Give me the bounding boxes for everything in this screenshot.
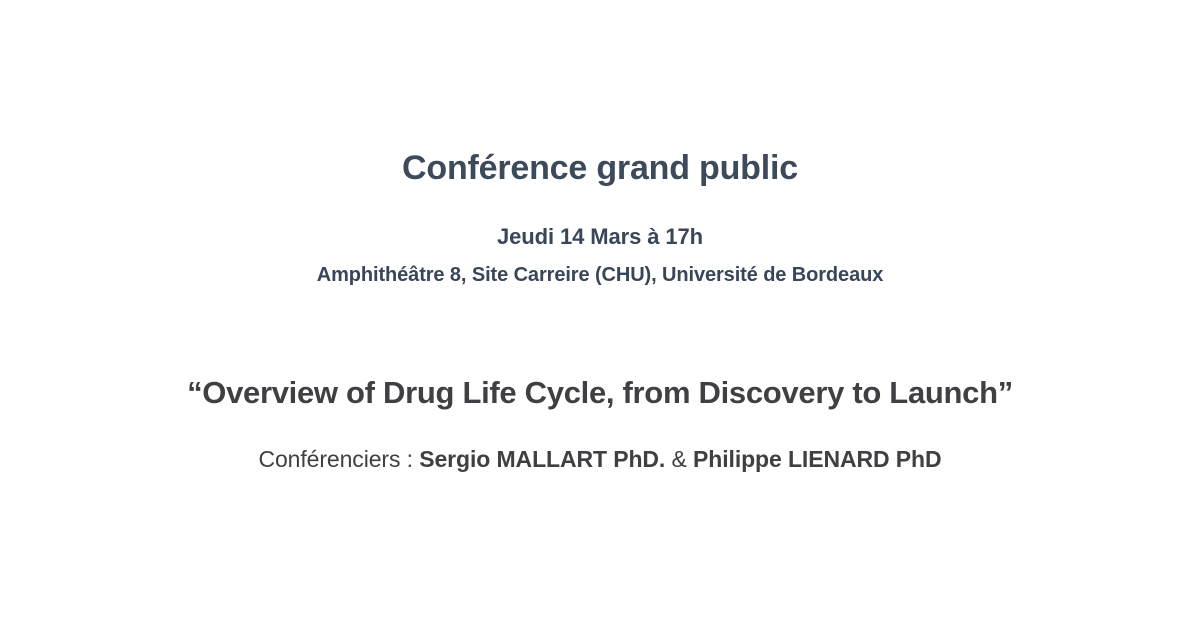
- speakers-conjunction: &: [665, 446, 693, 472]
- speakers-label: Conférenciers :: [258, 446, 419, 472]
- speaker-name-first: Sergio MALLART PhD.: [419, 446, 665, 472]
- event-datetime: Jeudi 14 Mars à 17h: [0, 190, 1200, 252]
- speakers-line: Conférenciers : Sergio MALLART PhD. & Ph…: [0, 414, 1200, 475]
- conference-announcement-poster: Conférence grand public Jeudi 14 Mars à …: [0, 0, 1200, 627]
- talk-title: “Overview of Drug Life Cycle, from Disco…: [0, 372, 1200, 414]
- header-block: Conférence grand public Jeudi 14 Mars à …: [0, 146, 1200, 289]
- speaker-name-second: Philippe LIENARD PhD: [693, 446, 941, 472]
- talk-block: “Overview of Drug Life Cycle, from Disco…: [0, 372, 1200, 475]
- event-venue: Amphithéâtre 8, Site Carreire (CHU), Uni…: [0, 252, 1200, 289]
- event-title: Conférence grand public: [0, 146, 1200, 190]
